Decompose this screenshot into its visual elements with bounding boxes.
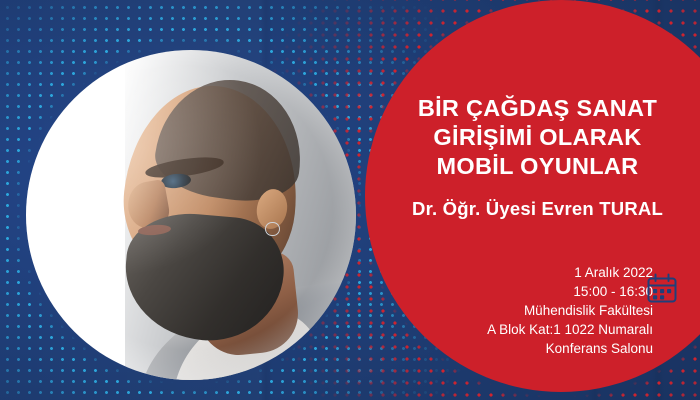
speaker-name: Dr. Öğr. Üyesi Evren TURAL — [395, 198, 680, 220]
event-venue-room: A Blok Kat:1 1022 Numaralı — [395, 320, 653, 339]
event-title: BİR ÇAĞDAŞ SANAT GİRİŞİMİ OLARAK MOBİL O… — [395, 94, 680, 181]
speaker-portrait-photo — [26, 50, 356, 380]
speaker-photo-circle — [26, 50, 356, 380]
event-venue-faculty: Mühendislik Fakültesi — [395, 301, 653, 320]
event-time: 15:00 - 16:30 — [395, 282, 653, 301]
event-details: 1 Aralık 2022 15:00 - 16:30 Mühendislik … — [395, 263, 653, 358]
calendar-icon — [645, 272, 679, 306]
event-title-line-1: BİR ÇAĞDAŞ SANAT — [395, 94, 680, 123]
poster-content: BİR ÇAĞDAŞ SANAT GİRİŞİMİ OLARAK MOBİL O… — [395, 0, 685, 400]
event-poster: BİR ÇAĞDAŞ SANAT GİRİŞİMİ OLARAK MOBİL O… — [0, 0, 700, 400]
event-title-line-3: MOBİL OYUNLAR — [395, 152, 680, 181]
event-date: 1 Aralık 2022 — [395, 263, 653, 282]
event-venue-hall: Konferans Salonu — [395, 339, 653, 358]
photo-white-vignette — [26, 50, 356, 380]
event-title-line-2: GİRİŞİMİ OLARAK — [395, 123, 680, 152]
